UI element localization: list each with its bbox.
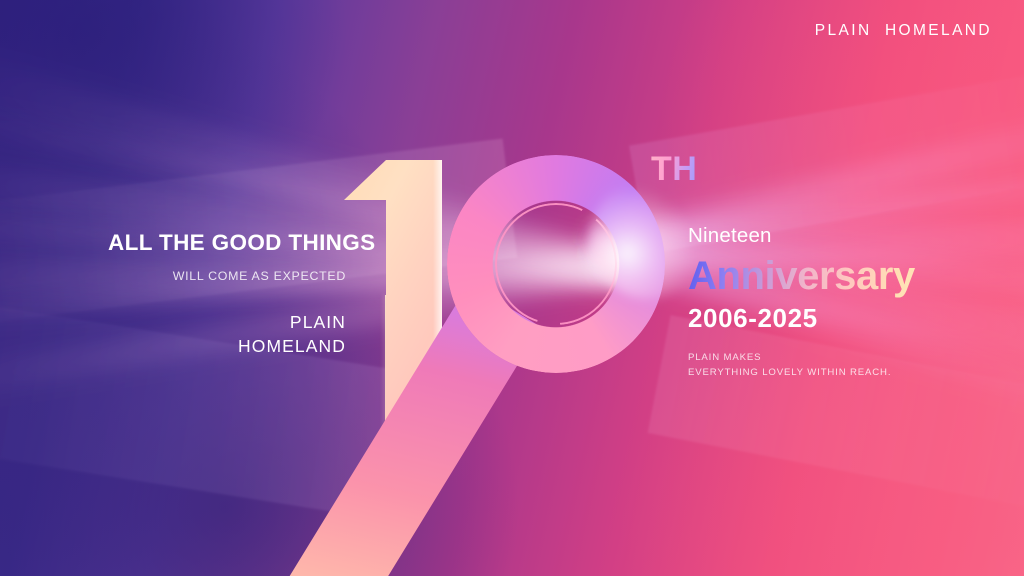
subheadline: WILL COME AS EXPECTED xyxy=(108,269,346,283)
ordinal-suffix: TH xyxy=(651,150,697,189)
brand-logo: PLAIN HOMELAND xyxy=(815,22,992,40)
tagline-line-2: EVERYTHING LOVELY WITHIN REACH. xyxy=(688,365,988,381)
left-brand-line-1: PLAIN xyxy=(108,311,346,335)
year-range: 2006-2025 xyxy=(688,305,988,331)
anniversary-poster: PLAIN HOMELAND ALL THE GOOD THINGS WILL … xyxy=(0,0,1024,576)
left-brand-line-2: HOMELAND xyxy=(108,335,346,359)
tagline-line-1: PLAIN MAKES xyxy=(688,350,988,366)
decorative-arc-icon xyxy=(495,203,617,325)
anniversary-title: Anniversary xyxy=(688,255,988,298)
left-copy-block: ALL THE GOOD THINGS WILL COME AS EXPECTE… xyxy=(108,231,346,358)
right-copy-block: Nineteen Anniversary 2006-2025 PLAIN MAK… xyxy=(688,226,988,381)
tagline-block: PLAIN MAKES EVERYTHING LOVELY WITHIN REA… xyxy=(688,350,988,381)
eyebrow-text: Nineteen xyxy=(688,226,988,247)
left-brand-lockup: PLAIN HOMELAND xyxy=(108,311,346,359)
numeral-nine-glyph xyxy=(447,155,677,576)
headline: ALL THE GOOD THINGS xyxy=(108,231,346,256)
